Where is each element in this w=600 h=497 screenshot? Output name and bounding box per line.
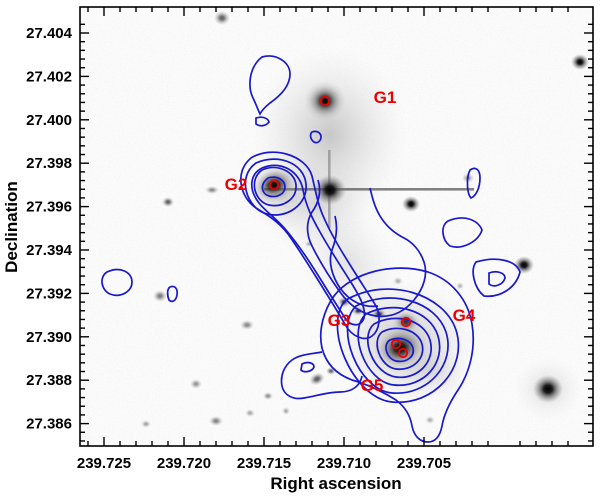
- label-g3: G3: [328, 311, 351, 330]
- x-tick-label-2: 239.715: [237, 455, 291, 472]
- y-tick-label-4: 27.396: [26, 199, 72, 216]
- x-tick-label-3: 239.710: [317, 455, 371, 472]
- astronomical-figure: G1 G2 G3 G4 G5 239.725239.720239.715239.…: [0, 0, 600, 497]
- y-tick-label-6: 27.392: [26, 285, 72, 302]
- label-g1: G1: [374, 88, 397, 107]
- label-g5: G5: [361, 376, 384, 395]
- y-tick-label-9: 27.386: [26, 416, 72, 433]
- label-g2: G2: [225, 175, 248, 194]
- label-g4: G4: [453, 306, 476, 325]
- y-axis-title: Declination: [2, 181, 21, 273]
- x-axis-title: Right ascension: [270, 474, 401, 493]
- y-tick-label-2: 27.400: [26, 112, 72, 129]
- y-tick-label-0: 27.404: [26, 25, 73, 42]
- y-tick-label-8: 27.388: [26, 372, 72, 389]
- x-tick-label-1: 239.720: [157, 455, 211, 472]
- y-tick-label-7: 27.390: [26, 329, 72, 346]
- figure-panel: G1 G2 G3 G4 G5 239.725239.720239.715239.…: [0, 0, 600, 497]
- y-tick-label-3: 27.398: [26, 155, 72, 172]
- y-tick-label-5: 27.394: [26, 242, 73, 259]
- y-tick-label-1: 27.402: [26, 68, 72, 85]
- x-tick-label-0: 239.725: [77, 455, 131, 472]
- x-tick-label-4: 239.705: [397, 455, 451, 472]
